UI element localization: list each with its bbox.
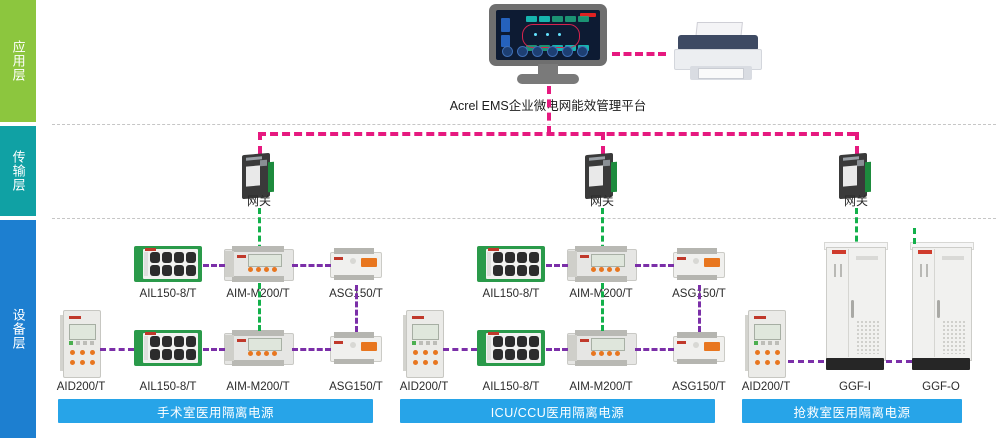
acrel-logo-icon: [832, 250, 846, 254]
asg-orange-module: [704, 258, 720, 267]
ail-ct-ring-grid: [150, 252, 196, 276]
gateway-label-2: 网关: [571, 192, 633, 209]
printer-icon: [668, 22, 766, 84]
acrel-logo-icon: [237, 339, 246, 342]
link-platform-printer: [612, 52, 666, 56]
device-label-ail150-g2-bottom: AIL150-8/T: [465, 381, 557, 393]
gateway-label-1: 网关: [228, 192, 290, 209]
device-aim-m200-g1-top[interactable]: [224, 246, 292, 282]
aid-button-grid[interactable]: [70, 350, 97, 367]
group-banner-2: ICU/CCU医用隔离电源: [400, 399, 715, 423]
device-ail150-g1-top[interactable]: [134, 246, 202, 282]
layer-bar-device: 设备层: [0, 220, 36, 438]
asg-orange-module: [704, 342, 720, 351]
divider-application-transmission: [52, 124, 996, 125]
aid-lcd-display: [412, 324, 439, 340]
link-g1-top-aim-asg: [292, 264, 331, 267]
gateway-port: [260, 160, 267, 167]
gateway-terminal-block: [865, 162, 871, 193]
link-g2-bot-aim-asg: [635, 348, 674, 351]
device-label-ggf-o: GGF-O: [910, 381, 972, 393]
aim-side-connector: [225, 335, 234, 361]
aim-lcd-display: [248, 254, 282, 267]
aim-terminal-bottom: [232, 276, 284, 282]
ail-ct-ring-grid: [150, 336, 196, 360]
cabinet-nameplate: [856, 256, 878, 260]
acrel-logo-icon: [677, 341, 686, 344]
aim-button-row[interactable]: [591, 267, 620, 272]
cabinet-vent-grille: [942, 320, 966, 354]
acrel-logo-icon: [69, 316, 81, 319]
aim-lcd-display: [248, 338, 282, 351]
acrel-logo-icon: [754, 316, 766, 319]
device-label-ail150-g2-top: AIL150-8/T: [465, 288, 557, 300]
aim-terminal-bottom: [575, 360, 627, 366]
acrel-logo-icon: [580, 339, 589, 342]
device-asg150-g2-bottom[interactable]: [673, 332, 723, 364]
link-g1-bot-ail-aim: [203, 348, 225, 351]
aim-terminal-top: [575, 246, 627, 252]
aid-lcd-display: [754, 324, 781, 340]
layer-bar-transmission: 传输层: [0, 126, 36, 216]
acrel-logo-icon: [488, 332, 499, 335]
cabinet-slot-2: [926, 264, 928, 277]
cabinet-door-handle[interactable]: [937, 300, 940, 318]
monitor-stand-base: [517, 74, 579, 84]
gateway-port: [603, 160, 610, 167]
device-aid200-g1[interactable]: [60, 310, 102, 376]
device-label-aim-m200-g1-bottom: AIM-M200/T: [212, 381, 304, 393]
aim-lcd-display: [591, 338, 625, 351]
aim-terminal-bottom: [575, 276, 627, 282]
gateway-label-3: 网关: [825, 192, 887, 209]
aid-button-grid[interactable]: [413, 350, 440, 367]
device-aim-m200-g1-bottom[interactable]: [224, 330, 292, 366]
link-g2-top-ail-aim: [546, 264, 568, 267]
aim-side-connector: [568, 251, 577, 277]
link-g2-bot-ail-aim: [546, 348, 568, 351]
cabinet-door-seam: [934, 249, 935, 357]
link-platform-down: [547, 86, 551, 134]
link-g2-aim-vertical: [601, 283, 604, 331]
link-g2-asg-vertical: [698, 285, 701, 332]
device-aid200-g2[interactable]: [403, 310, 445, 376]
layer-label-application: 应用层: [10, 40, 25, 82]
printer-output-tray: [698, 68, 744, 79]
device-label-aid200-g2: AID200/T: [393, 381, 455, 393]
gateway-label-plate: [589, 165, 603, 186]
layer-label-transmission: 传输层: [10, 150, 25, 192]
device-label-ggf-i: GGF-I: [824, 381, 886, 393]
monitor-screen: [496, 10, 600, 60]
device-asg150-g1-bottom[interactable]: [330, 332, 380, 364]
device-asg150-g1-top[interactable]: [330, 248, 380, 280]
aim-button-row[interactable]: [248, 267, 277, 272]
acrel-logo-icon: [145, 248, 156, 251]
link-g3-aid-ggfi: [788, 360, 824, 363]
ail-ct-ring-grid: [493, 252, 539, 276]
acrel-logo-icon: [918, 250, 932, 254]
topology-diagram: 应用层 传输层 设备层: [0, 0, 1000, 438]
aid-lcd-display: [69, 324, 96, 340]
layer-bar-application: 应用层: [0, 0, 36, 122]
asg-indicator: [693, 342, 699, 348]
device-asg150-g2-top[interactable]: [673, 248, 723, 280]
cabinet-nameplate: [942, 256, 964, 260]
asg-orange-module: [361, 342, 377, 351]
asg-terminal-top: [677, 332, 717, 338]
gateway-label-plate: [246, 165, 260, 186]
cabinet-vent-grille: [856, 320, 880, 354]
device-label-aim-m200-g2-bottom: AIM-M200/T: [555, 381, 647, 393]
device-aim-m200-g2-top[interactable]: [567, 246, 635, 282]
device-label-aid200-g1: AID200/T: [50, 381, 112, 393]
cabinet-plinth: [826, 358, 884, 370]
aim-side-connector: [568, 335, 577, 361]
link-bus-gateway-1: [258, 132, 262, 154]
acrel-logo-icon: [334, 257, 343, 260]
asg-terminal-top: [677, 248, 717, 254]
device-ail150-g2-top[interactable]: [477, 246, 545, 282]
link-g1-aid-ail: [100, 348, 134, 351]
aim-button-row[interactable]: [591, 351, 620, 356]
cabinet-slot-2: [840, 264, 842, 277]
ail-ct-ring-grid: [493, 336, 539, 360]
gateway-terminal-block: [611, 162, 617, 193]
cabinet-slot-1: [834, 264, 836, 277]
asg-terminal-top: [334, 332, 374, 338]
aim-button-row[interactable]: [248, 351, 277, 356]
aid-led-row: [412, 341, 437, 345]
link-g3-ggfi-ggfo: [886, 360, 912, 363]
group-banner-3: 抢救室医用隔离电源: [742, 399, 962, 423]
link-g1-top-ail-aim: [203, 264, 225, 267]
link-bus-gateway-3: [855, 132, 859, 154]
asg-terminal-bottom: [334, 275, 374, 280]
acrel-logo-icon: [488, 248, 499, 251]
device-label-aid200-g3: AID200/T: [735, 381, 797, 393]
ail-led-column: [144, 336, 148, 360]
aim-side-connector: [225, 251, 234, 277]
aim-lcd-display: [591, 254, 625, 267]
ail-led-column: [487, 252, 491, 276]
link-g3-ggfo-up: [913, 228, 916, 244]
acrel-logo-icon: [412, 316, 424, 319]
asg-orange-module: [361, 258, 377, 267]
device-label-ail150-g1-bottom: AIL150-8/T: [122, 381, 214, 393]
monitor-icon: [489, 4, 607, 86]
asg-indicator: [350, 258, 356, 264]
acrel-logo-icon: [580, 255, 589, 258]
device-label-ail150-g1-top: AIL150-8/T: [122, 288, 214, 300]
acrel-logo-icon: [334, 341, 343, 344]
link-g1-aim-vertical: [258, 283, 261, 331]
gateway-terminal-block: [268, 162, 274, 193]
device-ail150-g2-bottom[interactable]: [477, 330, 545, 366]
device-cabinet-ggf-i[interactable]: [826, 242, 884, 370]
cabinet-door-seam: [848, 249, 849, 357]
link-g2-aid-ail: [443, 348, 477, 351]
aid-button-grid[interactable]: [755, 350, 782, 367]
device-aid200-g3[interactable]: [745, 310, 787, 376]
device-label-asg150-g2-bottom: ASG150/T: [653, 381, 745, 393]
device-label-asg150-g1-bottom: ASG150/T: [310, 381, 402, 393]
aid-led-row: [754, 341, 779, 345]
link-g1-bot-aim-asg: [292, 348, 331, 351]
ail-led-column: [487, 336, 491, 360]
ail-led-column: [144, 252, 148, 276]
link-bus-gateway-2: [601, 132, 605, 154]
aim-terminal-top: [232, 246, 284, 252]
monitor-bezel: [489, 4, 607, 66]
gateway-port: [857, 160, 864, 167]
monitor-ring-graphic: [522, 24, 580, 48]
acrel-logo-icon: [145, 332, 156, 335]
asg-terminal-bottom: [334, 359, 374, 364]
device-cabinet-ggf-o[interactable]: [912, 242, 970, 370]
aid-led-row: [69, 341, 94, 345]
device-aim-m200-g2-bottom[interactable]: [567, 330, 635, 366]
asg-indicator: [350, 342, 356, 348]
link-g1-asg-vertical: [355, 285, 358, 332]
asg-terminal-top: [334, 248, 374, 254]
cabinet-slot-1: [920, 264, 922, 277]
cabinet-door-handle[interactable]: [851, 300, 854, 318]
device-ail150-g1-bottom[interactable]: [134, 330, 202, 366]
asg-terminal-bottom: [677, 359, 717, 364]
layer-label-device: 设备层: [10, 308, 25, 350]
asg-indicator: [693, 258, 699, 264]
gateway-label-plate: [843, 165, 857, 186]
acrel-logo-icon: [677, 257, 686, 260]
link-gateway-bus: [258, 132, 855, 136]
cabinet-plinth: [912, 358, 970, 370]
monitor-icon-strip: [502, 46, 588, 57]
link-g2-top-aim-asg: [635, 264, 674, 267]
acrel-logo-icon: [237, 255, 246, 258]
group-banner-1: 手术室医用隔离电源: [58, 399, 373, 423]
aim-terminal-bottom: [232, 360, 284, 366]
asg-terminal-bottom: [677, 275, 717, 280]
